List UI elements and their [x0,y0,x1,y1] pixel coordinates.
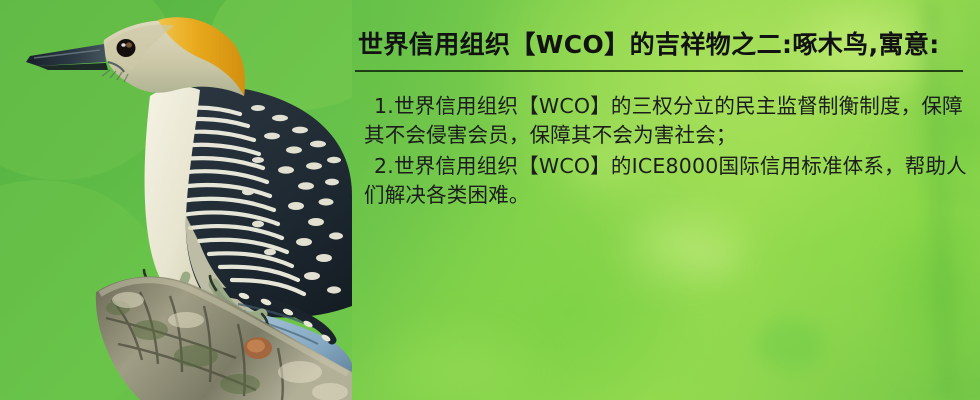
list-item: 1.世界信用组织【WCO】的三权分立的民主监督制衡制度，保障其不会侵害会员，保障… [352,92,980,150]
mascot-meaning-list: 1.世界信用组织【WCO】的三权分立的民主监督制衡制度，保障其不会侵害会员，保障… [352,92,980,212]
bird-eye-highlight [126,42,132,47]
list-item: 2.世界信用组织【WCO】的ICE8000国际信用标准体系，帮助人们解决各类困难… [352,152,980,210]
page-title: 世界信用组织【WCO】的吉祥物之二:啄木鸟,寓意: [358,28,966,62]
title-divider [355,70,963,72]
text-panel: 世界信用组织【WCO】的吉祥物之二:啄木鸟,寓意: 1.世界信用组织【WCO】的… [352,0,980,400]
bird-eye-glint [121,43,125,47]
branch-knot-inner [247,340,265,353]
wco-mascot-banner: 世界信用组织【WCO】的吉祥物之二:啄木鸟,寓意: 1.世界信用组织【WCO】的… [0,0,980,400]
bird-eye [117,39,136,57]
woodpecker-image [0,0,352,400]
